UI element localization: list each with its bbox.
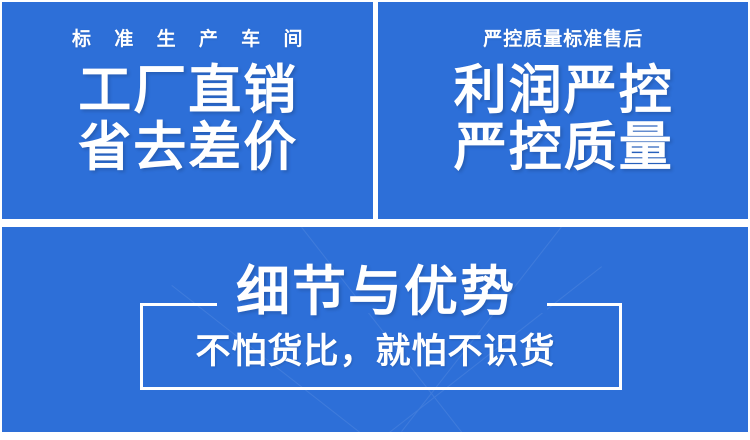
details-advantages-banner: 细节与优势 不怕货比，就怕不识货 <box>2 227 748 432</box>
panel-factory-direct: 标 准 生 产 车 间 工厂直销 省去差价 <box>2 2 373 219</box>
panel-headline-left-line1: 工厂直销 <box>76 63 298 118</box>
panel-eyebrow-left: 标 准 生 产 车 间 <box>63 30 311 49</box>
panel-eyebrow-right: 严控质量标准售后 <box>482 30 643 49</box>
banner-subtitle: 不怕货比，就怕不识货 <box>2 334 748 369</box>
panel-headline-right-line1: 利润严控 <box>452 63 674 118</box>
panel-headline-right-line2: 严控质量 <box>452 120 674 175</box>
top-panel-row: 标 准 生 产 车 间 工厂直销 省去差价 严控质量标准售后 利润严控 严控质量 <box>2 2 748 219</box>
panel-headline-left-line2: 省去差价 <box>76 120 298 175</box>
panel-quality-control: 严控质量标准售后 利润严控 严控质量 <box>378 2 749 219</box>
banner-title: 细节与优势 <box>2 265 748 319</box>
promo-poster: 标 准 生 产 车 间 工厂直销 省去差价 严控质量标准售后 利润严控 严控质量… <box>0 0 750 440</box>
